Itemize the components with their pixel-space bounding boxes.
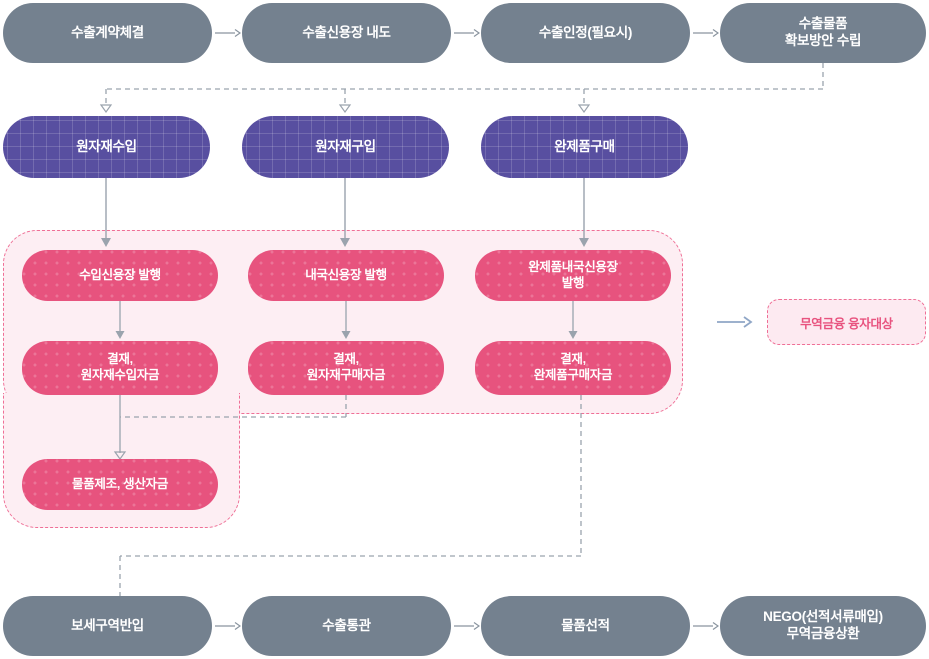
node-export-contract[interactable]: 수출계약체결 — [3, 3, 212, 63]
connector-plan-to-sourcing — [0, 60, 929, 115]
node-export-clearance[interactable]: 수출통관 — [242, 596, 451, 656]
arrow-top-1 — [212, 3, 244, 63]
node-finished-goods-buy[interactable]: 완제품구매 — [481, 116, 688, 178]
node-local-settle[interactable]: 결재, 원자재구매자금 — [248, 341, 444, 395]
node-finished-settle[interactable]: 결재, 완제품구매자금 — [475, 341, 671, 395]
arrow-to-callout — [712, 304, 758, 340]
node-production-funds[interactable]: 물품제조, 생산자금 — [22, 459, 218, 510]
arrow-bottom-3 — [690, 596, 722, 656]
callout-trade-finance-target[interactable]: 무역금융 융자대상 — [767, 299, 926, 345]
connector-settle-to-production — [0, 395, 929, 465]
arrow-top-3 — [690, 3, 722, 63]
node-export-goods-plan[interactable]: 수출물품 확보방안 수립 — [720, 3, 926, 63]
node-local-lc-issue[interactable]: 내국신용장 발행 — [248, 250, 444, 301]
node-export-approval[interactable]: 수출인정(필요시) — [481, 3, 690, 63]
node-export-lc-received[interactable]: 수출신용장 내도 — [242, 3, 451, 63]
node-raw-material-import[interactable]: 원자재수입 — [3, 116, 210, 178]
arrow-bottom-2 — [451, 596, 483, 656]
node-raw-material-purchase[interactable]: 원자재구입 — [242, 116, 449, 178]
flowchart-canvas: 수출계약체결 수출신용장 내도 수출인정(필요시) 수출물품 확보방안 수립 — [0, 0, 929, 659]
node-finished-lc-issue[interactable]: 완제품내국신용장 발행 — [475, 250, 671, 301]
connector-sourcing-to-finance — [0, 178, 929, 250]
arrow-bottom-1 — [212, 596, 244, 656]
node-import-lc-issue[interactable]: 수입신용장 발행 — [22, 250, 218, 301]
node-goods-shipment[interactable]: 물품선적 — [481, 596, 690, 656]
arrow-top-2 — [451, 3, 483, 63]
node-import-settle[interactable]: 결재, 원자재수입자금 — [22, 341, 218, 395]
node-bonded-area-entry[interactable]: 보세구역반입 — [3, 596, 212, 656]
node-nego-repayment[interactable]: NEGO(선적서류매입) 무역금융상환 — [720, 596, 926, 656]
